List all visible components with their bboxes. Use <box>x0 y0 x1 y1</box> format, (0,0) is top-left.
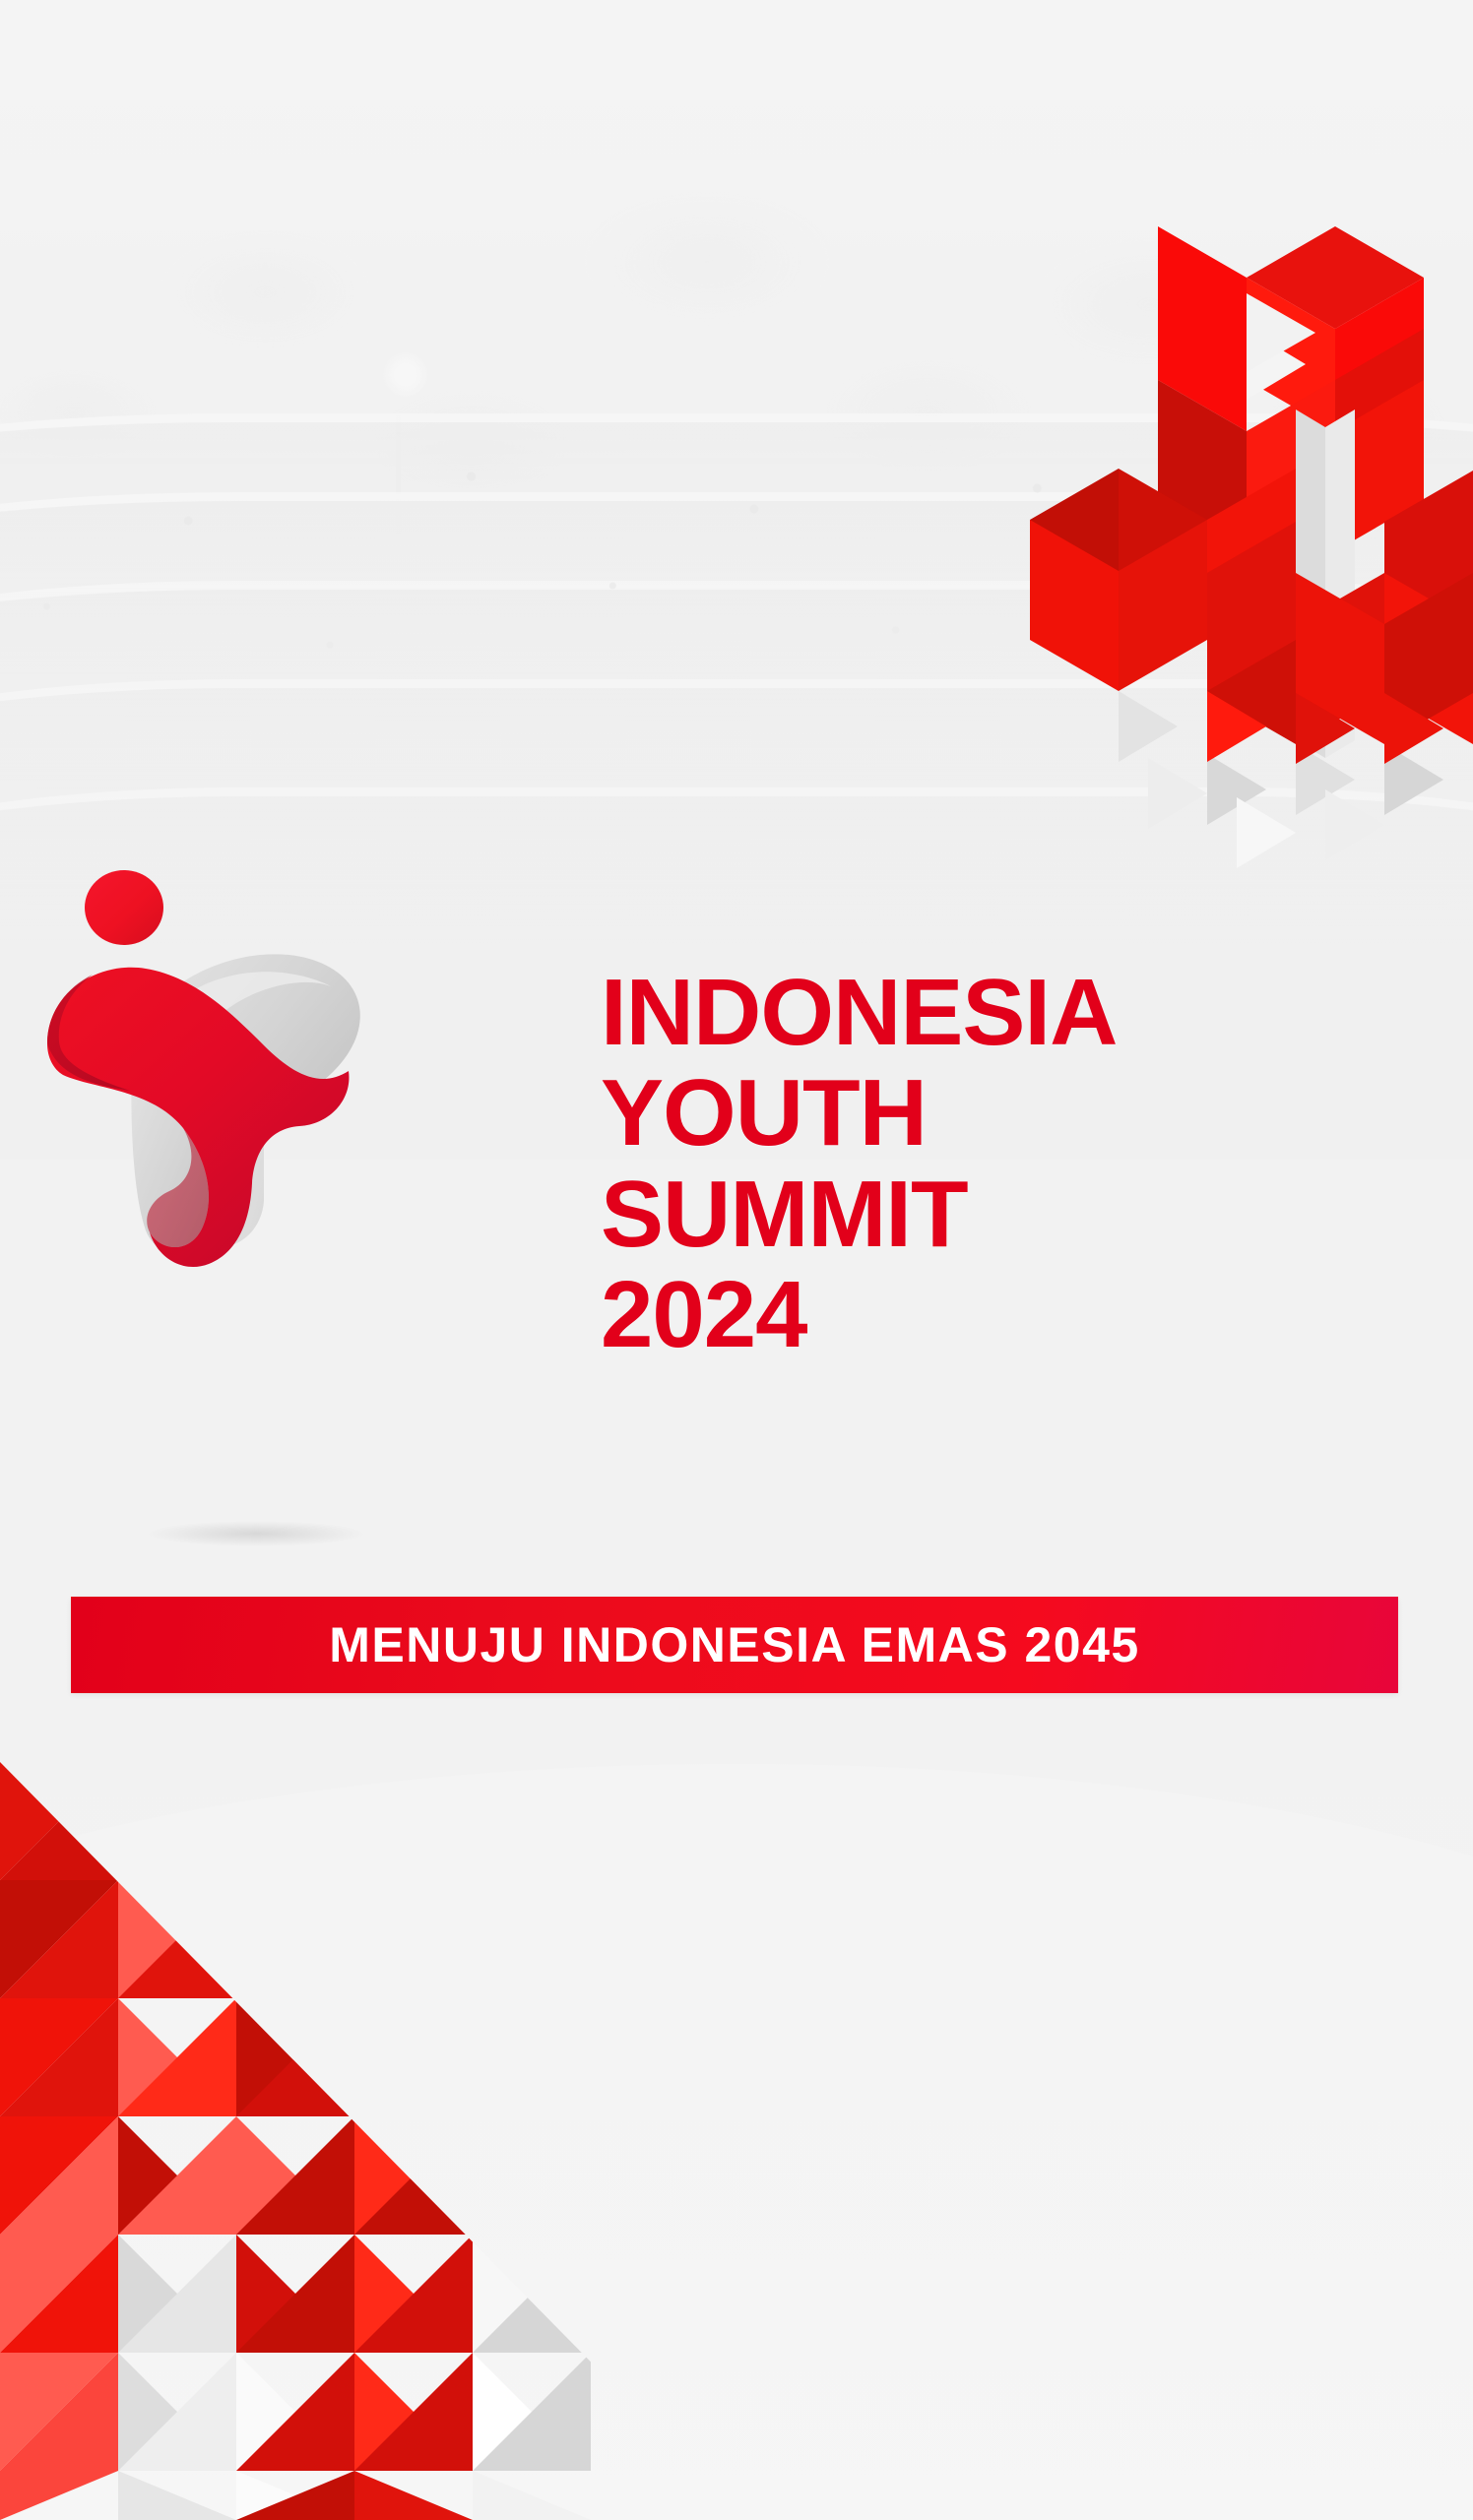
tagline-text: MENUJU INDONESIA EMAS 2045 <box>329 1616 1139 1673</box>
title-line-summit: SUMMIT <box>601 1171 1428 1258</box>
title-line-indonesia: INDONESIA <box>601 970 1428 1056</box>
indonesia-youth-summit-logo <box>35 866 360 1280</box>
poster-root: INDONESIA YOUTH SUMMIT 2024 MENUJU INDON… <box>0 0 1473 2520</box>
title-line-youth: YOUTH <box>601 1070 1428 1157</box>
isometric-blocks-pattern <box>1000 226 1473 876</box>
page-title: INDONESIA YOUTH SUMMIT 2024 <box>601 970 1428 1358</box>
title-line-year: 2024 <box>601 1272 1428 1358</box>
logo-drop-shadow <box>148 1521 364 1546</box>
triangle-mosaic-pattern <box>0 1732 630 2520</box>
tagline-banner: MENUJU INDONESIA EMAS 2045 <box>71 1597 1398 1693</box>
